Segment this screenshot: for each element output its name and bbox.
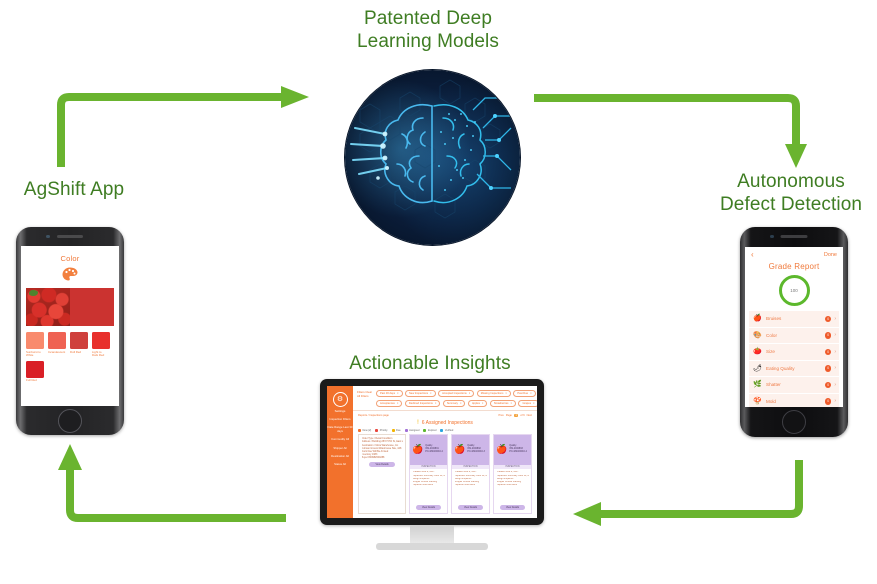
filter-chip[interactable]: Strawberries× <box>490 400 516 407</box>
info-view-details-button[interactable]: View Details <box>369 462 394 467</box>
close-icon[interactable]: × <box>533 402 535 405</box>
color-swatch-label: Sunburst to White <box>26 351 44 358</box>
grade-row-icon: 🌶 <box>752 365 763 372</box>
chevron-right-icon[interactable]: › <box>831 382 836 388</box>
legend-dot <box>405 429 408 432</box>
close-icon[interactable]: × <box>469 392 471 395</box>
earpiece-speaker <box>781 235 808 238</box>
inspection-card-body: Created June 9, 2017Inspection Summary J… <box>452 469 489 503</box>
grade-attribute-list[interactable]: 🍎Bruises0›🎨Color0›🍅Size0›🌶Eating Quality… <box>749 311 839 407</box>
grade-row-icon: 🌿 <box>752 381 763 388</box>
defect-detection-phone[interactable]: ‹ Done Grade Report 100 🍎Bruises0›🎨Color… <box>740 227 848 437</box>
filter-chip-label: Declined Inspections <box>409 402 433 405</box>
grade-report-screen[interactable]: ‹ Done Grade Report 100 🍎Bruises0›🎨Color… <box>745 247 843 407</box>
legend-label: Expired <box>428 429 436 432</box>
monitor-neck <box>410 525 454 543</box>
inspection-card-header: 🍎Quality INS-2032893 PO-482400016-4 <box>494 435 531 465</box>
front-camera-icon <box>770 235 774 239</box>
view-details-button[interactable]: View Details <box>500 505 525 510</box>
legend-item: Assigned <box>405 429 420 432</box>
inspection-card[interactable]: 🍎Quality INS-2032893 PO-482400016-4INSPE… <box>493 434 532 514</box>
phone-top-bezel <box>740 227 848 247</box>
color-swatch[interactable]: Sunburst to White <box>26 332 48 358</box>
pager-next[interactable]: Next <box>527 414 532 417</box>
close-icon[interactable]: × <box>510 402 512 405</box>
arrow-detect-to-insights <box>565 440 825 530</box>
close-icon[interactable]: × <box>397 392 399 395</box>
filter-chip[interactable]: Missing Inspections× <box>477 390 511 397</box>
legend-dot <box>423 429 426 432</box>
color-swatch-label: Dull Red <box>70 351 88 355</box>
inspection-card-header: 🍎Quality INS-2032891 PO-482400016-2 <box>410 435 447 465</box>
legend-dot <box>392 429 395 432</box>
sidebar-item[interactable]: Status All <box>327 463 353 466</box>
home-button[interactable] <box>782 410 806 434</box>
inspection-card-line: Inspector Rochberts <box>455 484 487 487</box>
grade-row[interactable]: 🍎Bruises0› <box>749 311 839 328</box>
filter-chip-label: Missing Inspections <box>481 392 504 395</box>
grade-row-label: Mold <box>763 399 825 404</box>
palette-icon <box>62 267 78 281</box>
grade-row-icon: 🍎 <box>752 315 763 322</box>
color-screen-title: Color <box>21 254 119 263</box>
breadcrumb-and-pager[interactable]: Reports / Inspections page Prev Page 1 o… <box>353 411 537 417</box>
done-button[interactable]: Done <box>824 252 837 258</box>
color-swatch-label: Full Red <box>26 379 44 383</box>
status-legend: New (2)PriorityDueAssignedExpiredVerifie… <box>353 426 537 434</box>
filter-chip[interactable]: Past 30 days× <box>376 390 403 397</box>
earpiece-speaker <box>57 235 83 238</box>
grade-row-label: Bruises <box>763 316 825 321</box>
filter-chip-row-2[interactable]: Acceptances×Declined Inspections×Summary… <box>376 400 533 407</box>
strawberry-photo <box>26 288 70 326</box>
color-swatch-chip <box>92 332 110 349</box>
ai-brain-icon <box>345 70 520 245</box>
dashboard-main: Filters Clear All Filters Past 30 days×N… <box>353 386 537 518</box>
filter-chip[interactable]: Declined Inspections× <box>405 400 440 407</box>
color-swatch[interactable]: Light to Dark Red <box>92 332 114 358</box>
chevron-right-icon[interactable]: › <box>831 349 836 355</box>
grade-row[interactable]: 🌶Eating Quality0› <box>749 361 839 378</box>
inspection-card-body: Created June 9, 2017Inspection Summary J… <box>410 469 447 503</box>
color-swatch-label: Light to Dark Red <box>92 351 110 358</box>
sidebar-item[interactable]: Shipper All <box>327 447 353 450</box>
arrow-insights-to-app <box>48 440 308 530</box>
close-icon[interactable]: × <box>460 402 462 405</box>
workflow-diagram: Patented Deep Learning Models AgShift Ap… <box>0 0 877 584</box>
color-swatch-chip <box>26 332 44 349</box>
legend-item: Due <box>392 429 401 432</box>
close-icon[interactable]: × <box>430 392 432 395</box>
legend-label: Assigned <box>409 429 419 432</box>
legend-dot <box>440 429 443 432</box>
inspection-card[interactable]: 🍎Quality INS-2032892 PO-482400016-3INSPE… <box>451 434 490 514</box>
color-screen[interactable]: Color Sunburst to WhiteIncandescentDull … <box>21 246 119 406</box>
inspection-card-body: Created June 9, 2017Inspection Summary J… <box>494 469 531 503</box>
pager-page-label: Page <box>506 414 512 417</box>
sidebar-item[interactable]: Destination All <box>327 455 353 458</box>
grade-row[interactable]: 🍅Size0› <box>749 344 839 361</box>
color-swatch[interactable]: Dull Red <box>70 332 92 358</box>
pager[interactable]: Prev Page 1 of 6 Next <box>498 414 532 417</box>
apple-icon: 🍎 <box>454 445 465 454</box>
insights-dashboard-monitor[interactable]: ⚙ Settings Inspection FiltersDate Range … <box>320 379 544 553</box>
view-details-button[interactable]: View Details <box>458 505 483 510</box>
label-patented-deep-learning-models: Patented Deep Learning Models <box>328 7 528 53</box>
legend-label: Verified <box>445 429 453 432</box>
dashboard-screen[interactable]: ⚙ Settings Inspection FiltersDate Range … <box>327 386 537 518</box>
home-button[interactable] <box>58 409 82 433</box>
sample-preview <box>26 288 114 326</box>
grade-row[interactable]: 🍄Mold0› <box>749 394 839 408</box>
filter-chip[interactable]: New Inspections× <box>405 390 436 397</box>
color-swatch-grid[interactable]: Sunburst to WhiteIncandescentDull RedLig… <box>26 332 114 386</box>
filter-chip[interactable]: Apples× <box>468 400 487 407</box>
filter-chip-label: Past Due <box>517 392 528 395</box>
sidebar-item-list[interactable]: Inspection FiltersDate Range Last 30 day… <box>327 413 353 467</box>
close-icon[interactable]: × <box>505 392 507 395</box>
filter-chip-label: Accepted Inspections <box>442 392 467 395</box>
label-agshift-app: AgShift App <box>0 178 148 201</box>
monitor-base <box>376 543 488 550</box>
grade-row-label: Shatter <box>763 382 825 387</box>
chevron-right-icon[interactable]: › <box>831 365 836 371</box>
label-autonomous-defect-detection: Autonomous Defect Detection <box>705 170 877 216</box>
inspection-cards[interactable]: Order Type / Retail ConditionAddress / B… <box>353 434 537 518</box>
legend-label: Due <box>396 429 401 432</box>
arrow-app-to-ai <box>55 85 315 175</box>
sidebar-item[interactable]: Commodity All <box>327 438 353 441</box>
filter-bar-label: Filters Clear All Filters <box>357 390 373 407</box>
filter-chip[interactable]: Acceptances× <box>376 400 402 407</box>
chevron-right-icon[interactable]: › <box>831 398 836 404</box>
filter-chip-rows[interactable]: Past 30 days×New Inspections×Accepted In… <box>376 390 533 407</box>
breadcrumb[interactable]: Reports / Inspections page <box>358 414 389 417</box>
apple-icon: 🍎 <box>412 445 423 454</box>
inspection-card-id: Quality INS-2032893 PO-482400016-4 <box>509 445 527 454</box>
legend-dot <box>375 429 378 432</box>
score-ring: 100 <box>779 275 810 306</box>
grade-report-title: Grade Report <box>745 262 843 271</box>
detected-color-swatch <box>70 288 114 326</box>
grade-row-icon: 🎨 <box>752 332 763 339</box>
filter-chip[interactable]: Grapes× <box>518 400 537 407</box>
filter-chip[interactable]: Past Due× <box>513 390 535 397</box>
filter-chip-row-1[interactable]: Past 30 days×New Inspections×Accepted In… <box>376 390 533 397</box>
score-value: 100 <box>790 288 798 293</box>
filter-chip-label: New Inspections <box>409 392 428 395</box>
legend-dot <box>358 429 361 432</box>
inspection-card[interactable]: 🍎Quality INS-2032891 PO-482400016-2INSPE… <box>409 434 448 514</box>
close-icon[interactable]: × <box>530 392 532 395</box>
agshift-app-phone[interactable]: Color Sunburst to WhiteIncandescentDull … <box>16 227 124 435</box>
grade-row-label: Color <box>763 333 825 338</box>
chevron-right-icon[interactable]: › <box>831 332 836 338</box>
filter-bar[interactable]: Filters Clear All Filters Past 30 days×N… <box>353 386 537 411</box>
inspection-card-line: Inspector Rochberts <box>413 484 445 487</box>
monitor-body: ⚙ Settings Inspection FiltersDate Range … <box>320 379 544 525</box>
navbar: ‹ Done <box>745 247 843 259</box>
color-swatch-chip <box>70 332 88 349</box>
grade-row[interactable]: 🌿Shatter0› <box>749 377 839 394</box>
grade-row-label: Size <box>763 349 825 354</box>
inspection-card-list[interactable]: 🍎Quality INS-2032891 PO-482400016-2INSPE… <box>409 434 532 514</box>
inspection-card-id: Quality INS-2032892 PO-482400016-3 <box>467 445 485 454</box>
sidebar-item[interactable]: Inspection Filters <box>327 418 353 421</box>
filter-chip[interactable]: Summary× <box>443 400 466 407</box>
arrow-ai-to-detect <box>530 90 810 170</box>
close-icon[interactable]: × <box>435 402 437 405</box>
filter-chip-label: Past 30 days <box>380 392 395 395</box>
filter-chip-label: Grapes <box>522 402 531 405</box>
view-details-button[interactable]: View Details <box>416 505 441 510</box>
front-camera-icon <box>46 235 50 239</box>
back-chevron-icon[interactable]: ‹ <box>751 251 754 259</box>
color-swatch[interactable]: Incandescent <box>48 332 70 358</box>
phone-bottom-bezel <box>740 407 848 437</box>
inspection-card-line: Inspector Rochberts <box>497 484 529 487</box>
color-swatch-label: Incandescent <box>48 351 66 355</box>
legend-item: Expired <box>423 429 436 432</box>
color-swatch[interactable]: Full Red <box>26 361 48 383</box>
grade-row-icon: 🍄 <box>752 398 763 405</box>
legend-label: New (2) <box>363 429 372 432</box>
filter-chip[interactable]: Accepted Inspections× <box>438 390 474 397</box>
grade-row[interactable]: 🎨Color0› <box>749 328 839 345</box>
phone-bottom-bezel <box>16 406 124 435</box>
color-swatch-chip <box>26 361 44 378</box>
inspection-card-header: 🍎Quality INS-2032892 PO-482400016-3 <box>452 435 489 465</box>
legend-item: Verified <box>440 429 453 432</box>
chevron-right-icon[interactable]: › <box>831 316 836 322</box>
sidebar-item[interactable]: Date Range Last 30 days <box>327 426 353 433</box>
order-info-line: Buyer 800982600288 <box>362 456 403 459</box>
pager-prev[interactable]: Prev <box>498 414 503 417</box>
legend-item: New (2) <box>358 429 371 432</box>
apple-icon: 🍎 <box>496 445 507 454</box>
gear-icon[interactable]: ⚙ <box>333 392 348 407</box>
color-swatch-chip <box>48 332 66 349</box>
close-icon[interactable]: × <box>397 402 399 405</box>
pager-current[interactable]: 1 <box>514 414 518 417</box>
dashboard-sidebar[interactable]: ⚙ Settings Inspection FiltersDate Range … <box>327 386 353 518</box>
grade-row-label: Eating Quality <box>763 366 825 371</box>
filter-chip-label: Acceptances <box>380 402 395 405</box>
phone-top-bezel <box>16 227 124 246</box>
pager-total: of 6 <box>520 414 524 417</box>
filter-chip-label: Apples <box>472 402 480 405</box>
close-icon[interactable]: × <box>482 402 484 405</box>
legend-item: Priority <box>375 429 387 432</box>
grade-row-icon: 🍅 <box>752 348 763 355</box>
filter-chip-label: Strawberries <box>494 402 509 405</box>
inspection-card-id: Quality INS-2032891 PO-482400016-2 <box>425 445 443 454</box>
filter-chip-label: Summary <box>447 402 458 405</box>
label-actionable-insights: Actionable Insights <box>330 352 530 375</box>
order-info-panel: Order Type / Retail ConditionAddress / B… <box>358 434 406 514</box>
legend-label: Priority <box>380 429 388 432</box>
